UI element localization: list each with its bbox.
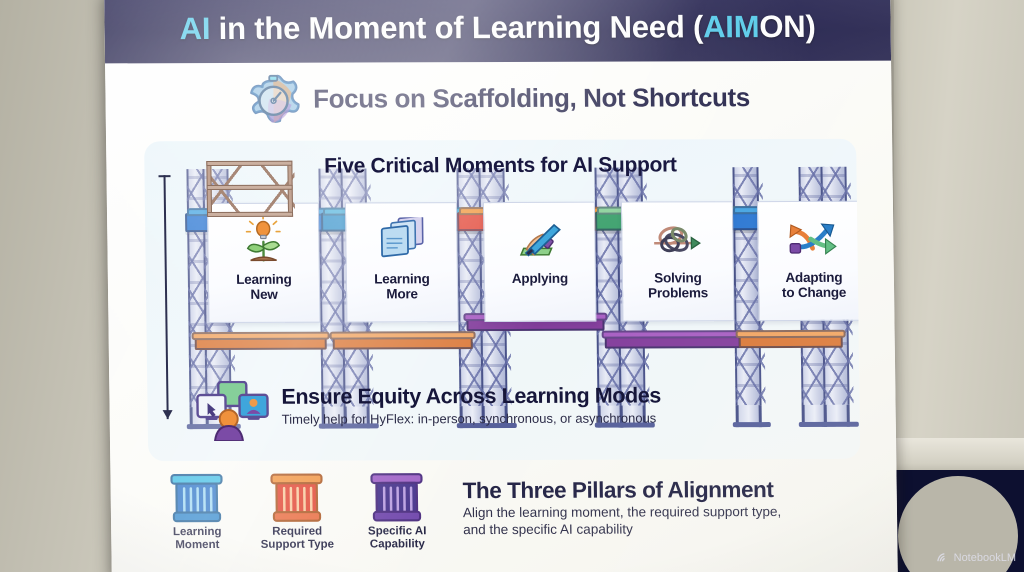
pillar-required-support-type[interactable]: RequiredSupport Type	[250, 473, 343, 553]
pillar-learning-moment[interactable]: LearningMoment	[150, 473, 243, 553]
title-accent-m: M	[733, 9, 759, 44]
title-accent-ai2: AI	[703, 9, 734, 44]
pillars-body: Align the learning moment, the required …	[463, 504, 782, 539]
height-measure-arrow	[159, 175, 174, 419]
moment-card-label: Adaptingto Change	[782, 270, 847, 300]
sprout-lightbulb-icon	[238, 216, 289, 268]
pillar-caption-line2: Capability	[370, 538, 425, 550]
title-tail: ON)	[759, 9, 816, 44]
moment-card-solving-problems[interactable]: SolvingProblems	[621, 201, 735, 321]
pillar-icon-purple	[350, 472, 443, 522]
multi-device-learner-icon	[195, 381, 270, 441]
pillar-caption: Specific AICapability	[351, 525, 443, 552]
room-ledge	[886, 438, 1024, 474]
pillar-caption-line2: Moment	[175, 539, 219, 551]
moment-label-line2: to Change	[782, 285, 846, 300]
equity-text: Ensure Equity Across Learning Modes Time…	[281, 379, 661, 426]
pillar-caption-line1: Specific AI	[368, 525, 427, 537]
three-pillars-block: LearningMoment RequiredSupport Type	[150, 471, 867, 569]
moment-card-adapting-to-change[interactable]: Adaptingto Change	[757, 201, 860, 321]
headline-text: Focus on Scaffolding, Not Shortcuts	[313, 82, 750, 115]
moment-label-line1: Learning	[374, 271, 430, 286]
moment-card-label: LearningMore	[374, 271, 430, 301]
title-accent-ai: AI	[179, 11, 210, 46]
shelf-bay-2	[333, 336, 473, 349]
pillar-icon-orange	[250, 473, 343, 523]
notebooklm-label: NotebookLM	[954, 552, 1016, 564]
page-title: AI in the Moment of Learning Need (AIMON…	[179, 9, 815, 47]
pillar-icon-blue	[150, 473, 243, 523]
pillars-heading: The Three Pillars of Alignment	[462, 477, 781, 504]
pillar-caption: RequiredSupport Type	[251, 526, 343, 553]
title-mid: in the Moment of Learning Need (	[210, 9, 703, 46]
room-wall-right	[886, 0, 1024, 470]
moment-card-applying[interactable]: Applying	[483, 202, 597, 322]
slide-poster: AI in the Moment of Learning Need (AIMON…	[104, 0, 898, 572]
hand-pen-icon	[513, 215, 566, 267]
slide-surface: AI in the Moment of Learning Need (AIMON…	[104, 0, 898, 572]
moment-label-line2: New	[250, 287, 277, 302]
headline-row: Focus on Scaffolding, Not Shortcuts	[105, 65, 892, 132]
shelf-bay-1	[195, 337, 327, 350]
equity-block: Ensure Equity Across Learning Modes Time…	[195, 379, 836, 441]
notebooklm-watermark: NotebookLM	[936, 551, 1016, 564]
moment-label-line2: Problems	[648, 285, 708, 300]
pillar-caption-line1: Required	[272, 526, 322, 538]
photo-scene: AI in the Moment of Learning Need (AIMON…	[0, 0, 1024, 572]
shelf-bay-4	[605, 335, 741, 348]
pillars-body-line2: and the specific AI capability	[463, 521, 633, 537]
crossing-arrows-icon	[786, 214, 841, 266]
moment-label-line1: Adapting	[785, 270, 842, 285]
moment-card-learning-new[interactable]: LearningNew	[207, 203, 321, 323]
pillars-body-line1: Align the learning moment, the required …	[463, 504, 781, 520]
moment-card-label: LearningNew	[236, 272, 292, 302]
equity-subheading: Timely help for HyFlex: in-person, synch…	[282, 410, 662, 426]
tangled-knot-arrow-icon	[650, 214, 705, 266]
notebooklm-icon	[936, 551, 949, 564]
slide-title-bar: AI in the Moment of Learning Need (AIMON…	[104, 0, 891, 63]
moment-label-line1: Learning	[236, 272, 292, 287]
five-moments-panel: Five Critical Moments for AI Support	[144, 139, 860, 461]
moment-card-label: Applying	[512, 271, 568, 286]
moment-card-label: SolvingProblems	[648, 270, 708, 300]
wooden-scaffold-frame-icon	[206, 161, 293, 217]
shelf-bay-5	[739, 335, 843, 348]
pillar-caption-line1: Learning	[173, 526, 222, 538]
pillar-caption-line2: Support Type	[261, 539, 334, 551]
moment-label-line1: Solving	[654, 270, 702, 285]
stacked-layers-icon	[375, 215, 428, 267]
pillars-copy: The Three Pillars of Alignment Align the…	[462, 471, 781, 539]
pillar-caption: LearningMoment	[151, 526, 243, 553]
stopwatch-gear-icon	[247, 73, 300, 125]
moment-label-line1: Applying	[512, 271, 568, 286]
moment-card-learning-more[interactable]: LearningMore	[345, 202, 459, 322]
moment-label-line2: More	[386, 286, 418, 301]
equity-heading: Ensure Equity Across Learning Modes	[281, 383, 661, 409]
pillar-specific-ai-capability[interactable]: Specific AICapability	[350, 472, 443, 552]
